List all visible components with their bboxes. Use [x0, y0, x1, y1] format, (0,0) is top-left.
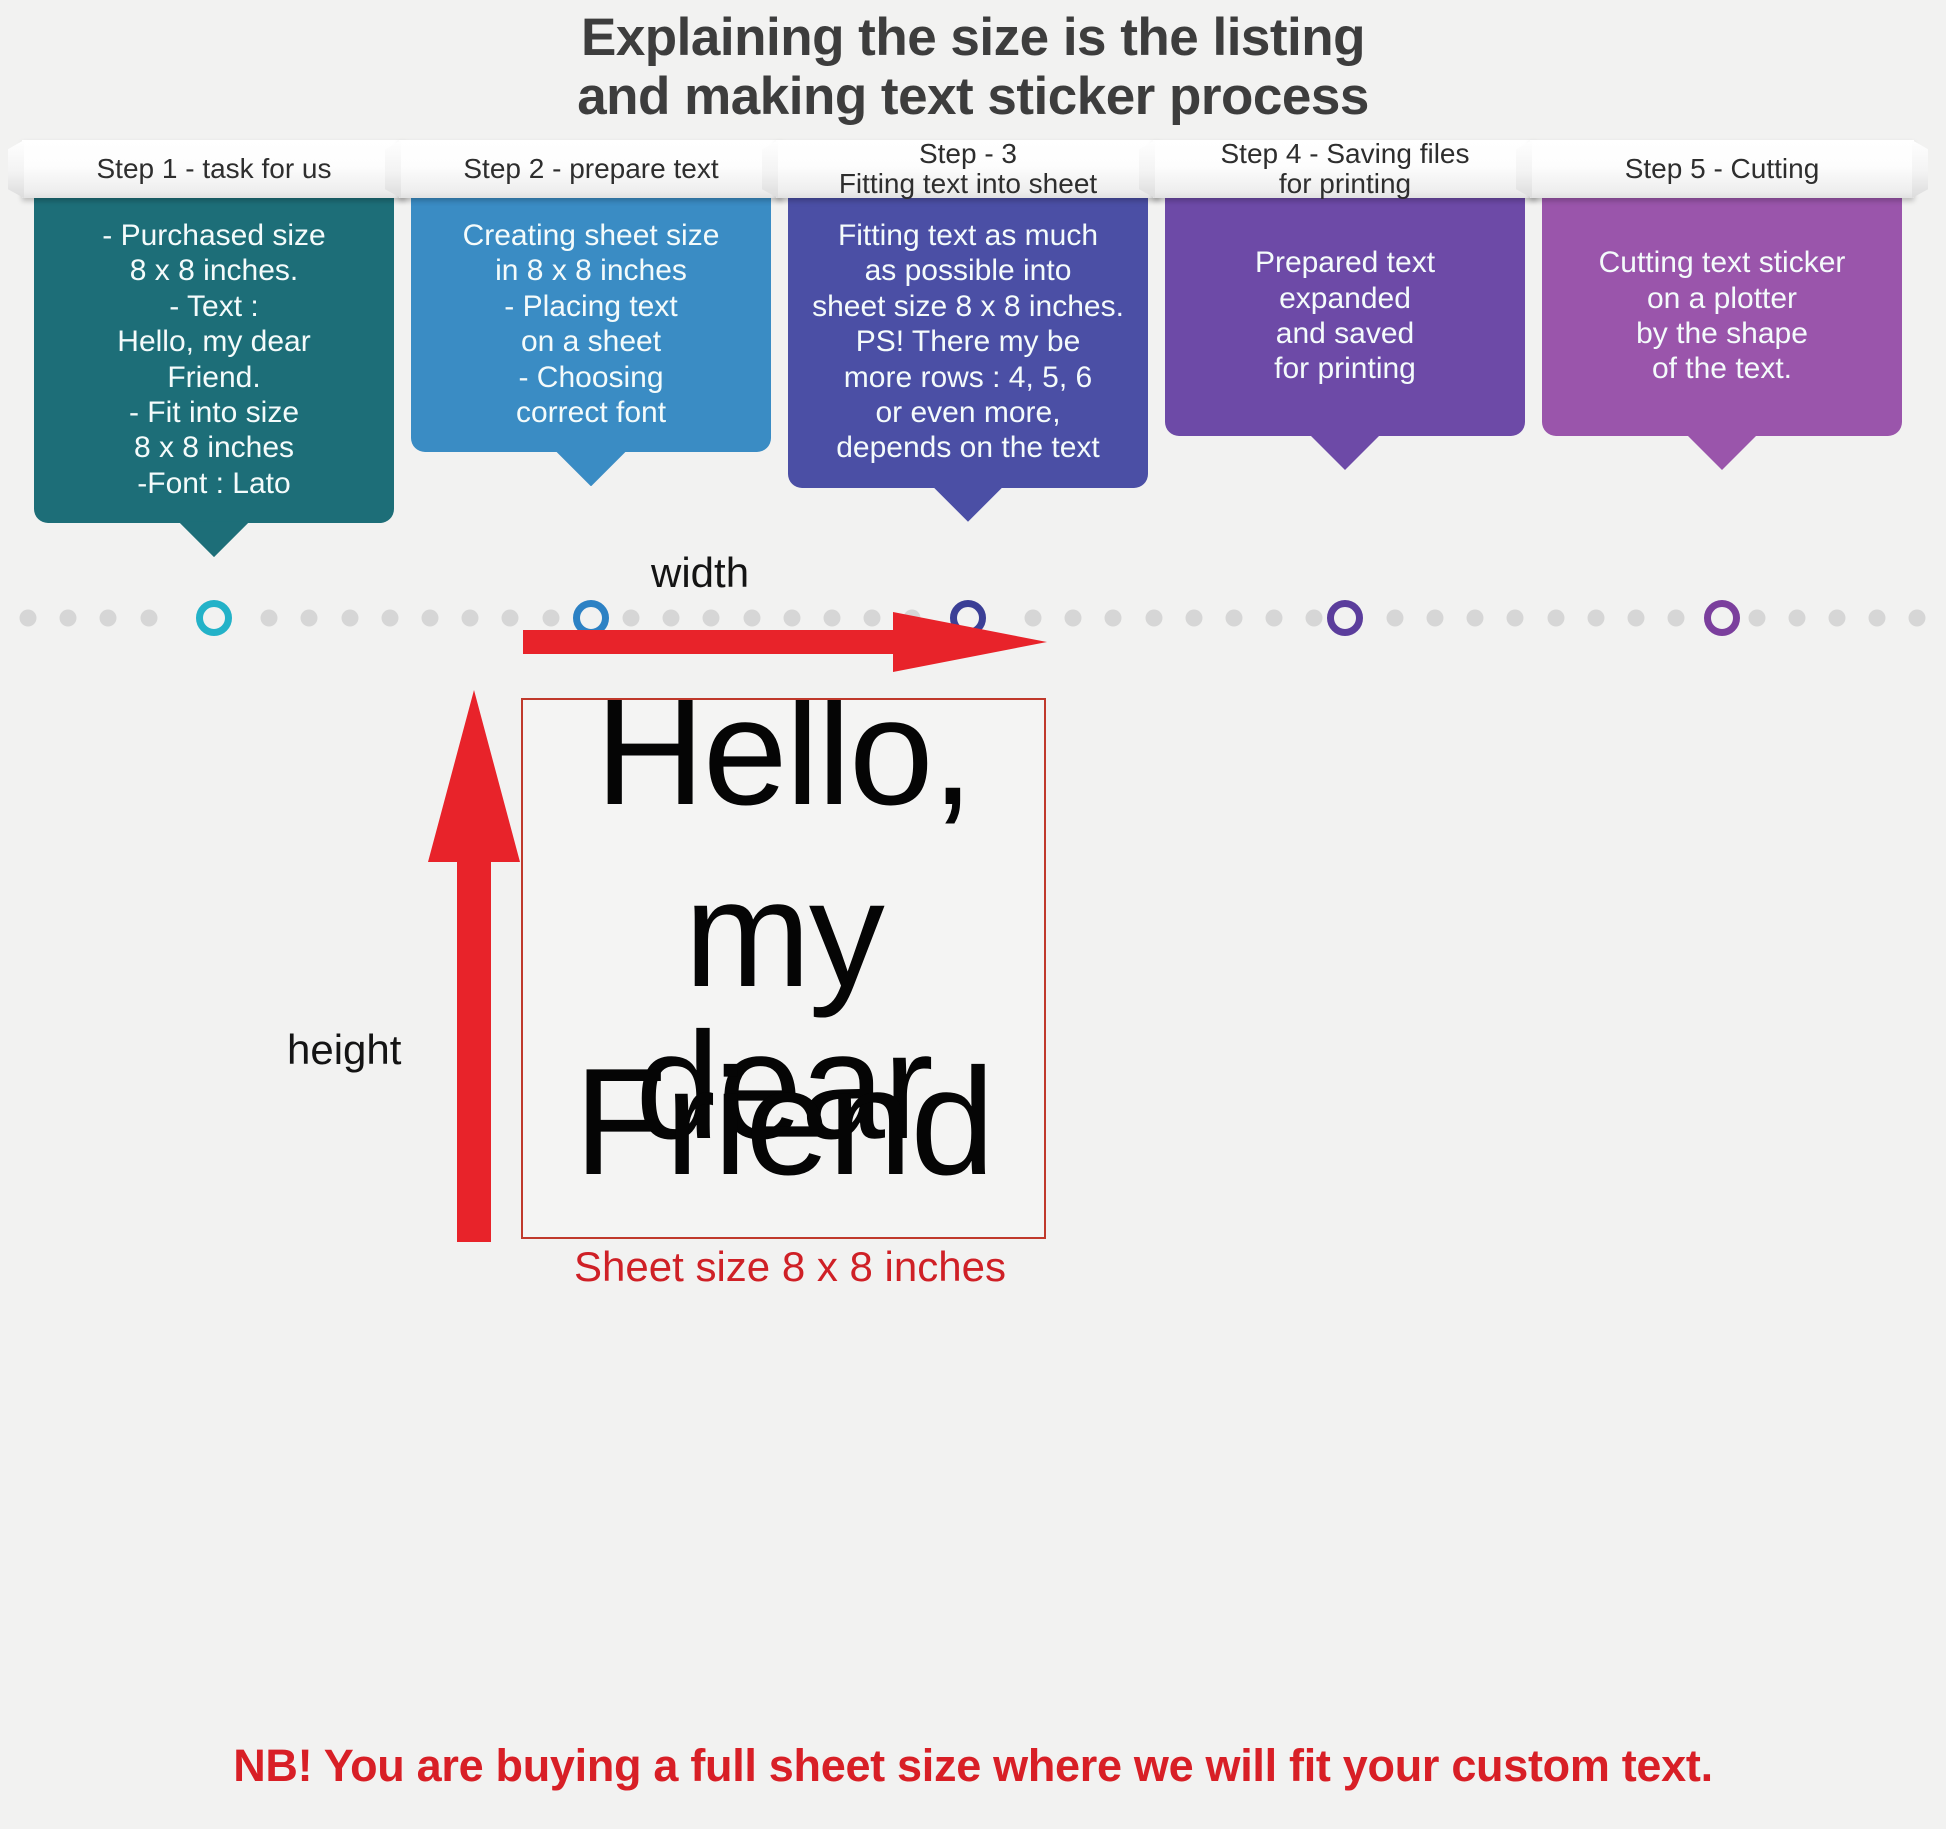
step-5-panel: Cutting text sticker on a plotter by the… — [1542, 198, 1902, 436]
page-title: Explaining the size is the listing and m… — [0, 8, 1946, 127]
step-3-label-ribbon: Step - 3 Fitting text into sheet — [776, 140, 1160, 198]
timeline-dot — [301, 610, 318, 627]
timeline-dot — [1185, 610, 1202, 627]
width-arrow-icon — [523, 610, 1047, 674]
step-3-label: Step - 3 Fitting text into sheet — [839, 139, 1097, 199]
step-3-body: Fitting text as much as possible into sh… — [812, 218, 1124, 466]
sheet-text-line-1: Hello, — [523, 698, 1044, 828]
step-1-pointer — [178, 521, 250, 557]
timeline-marker-step-4[interactable] — [1327, 600, 1363, 636]
timeline-dot — [60, 610, 77, 627]
sheet-preview: Hello, my dear Friend — [521, 698, 1046, 1239]
timeline-dot — [1266, 610, 1283, 627]
timeline-dot — [1829, 610, 1846, 627]
timeline-dot — [1145, 610, 1162, 627]
step-5-pointer — [1686, 434, 1758, 470]
timeline-dot — [502, 610, 519, 627]
height-label: height — [287, 1026, 401, 1074]
timeline-dot — [422, 610, 439, 627]
page-title-line-2: and making text sticker process — [0, 67, 1946, 126]
step-2-panel: Creating sheet size in 8 x 8 inches - Pl… — [411, 198, 771, 452]
timeline-dot — [1869, 610, 1886, 627]
timeline-dot — [261, 610, 278, 627]
width-label: width — [651, 549, 749, 597]
step-2-pointer — [555, 450, 627, 486]
timeline-dot — [1507, 610, 1524, 627]
timeline-dot — [1306, 610, 1323, 627]
step-5-label-ribbon: Step 5 - Cutting — [1530, 140, 1914, 198]
step-card-4[interactable]: Step 4 - Saving files for printing Prepa… — [1165, 140, 1525, 523]
height-arrow-icon — [420, 690, 528, 1242]
timeline-marker-step-1[interactable] — [196, 600, 232, 636]
timeline-dot — [462, 610, 479, 627]
timeline-dot — [1587, 610, 1604, 627]
step-3-pointer — [932, 486, 1004, 522]
timeline-dot — [1105, 610, 1122, 627]
timeline-dot — [1547, 610, 1564, 627]
step-1-panel: - Purchased size 8 x 8 inches. - Text : … — [34, 198, 394, 523]
step-4-label: Step 4 - Saving files for printing — [1220, 139, 1469, 199]
infographic-page: Explaining the size is the listing and m… — [0, 0, 1946, 1829]
page-title-line-1: Explaining the size is the listing — [581, 8, 1365, 67]
step-2-label-ribbon: Step 2 - prepare text — [399, 140, 783, 198]
bottom-note: NB! You are buying a full sheet size whe… — [0, 1740, 1946, 1792]
step-4-label-ribbon: Step 4 - Saving files for printing — [1153, 140, 1537, 198]
timeline-dot — [1788, 610, 1805, 627]
sheet-size-caption: Sheet size 8 x 8 inches — [470, 1243, 1110, 1291]
timeline-marker-step-5[interactable] — [1704, 600, 1740, 636]
timeline-dot — [1386, 610, 1403, 627]
steps-row: Step 1 - task for us - Purchased size 8 … — [34, 140, 1914, 523]
timeline-dot — [1748, 610, 1765, 627]
step-5-body: Cutting text sticker on a plotter by the… — [1599, 245, 1846, 387]
timeline-dot — [1226, 610, 1243, 627]
timeline-dot — [341, 610, 358, 627]
step-2-label: Step 2 - prepare text — [463, 154, 718, 184]
step-3-panel: Fitting text as much as possible into sh… — [788, 198, 1148, 488]
step-card-2[interactable]: Step 2 - prepare text Creating sheet siz… — [411, 140, 771, 523]
timeline-dot — [1909, 610, 1926, 627]
step-2-body: Creating sheet size in 8 x 8 inches - Pl… — [463, 218, 720, 430]
sheet-text-line-3: Friend — [523, 1046, 1044, 1198]
timeline-dot — [100, 610, 117, 627]
step-4-pointer — [1309, 434, 1381, 470]
step-1-label: Step 1 - task for us — [97, 154, 332, 184]
timeline-dot — [1628, 610, 1645, 627]
timeline-dot — [20, 610, 37, 627]
timeline-dot — [381, 610, 398, 627]
step-4-body: Prepared text expanded and saved for pri… — [1255, 245, 1435, 387]
timeline-dot — [1467, 610, 1484, 627]
timeline-dot — [1065, 610, 1082, 627]
step-1-body: - Purchased size 8 x 8 inches. - Text : … — [102, 218, 325, 501]
timeline-dot — [140, 610, 157, 627]
step-card-1[interactable]: Step 1 - task for us - Purchased size 8 … — [34, 140, 394, 523]
step-card-5[interactable]: Step 5 - Cutting Cutting text sticker on… — [1542, 140, 1902, 523]
step-1-label-ribbon: Step 1 - task for us — [22, 140, 406, 198]
timeline-dot — [1668, 610, 1685, 627]
step-5-label: Step 5 - Cutting — [1625, 154, 1820, 184]
timeline-dot — [1427, 610, 1444, 627]
step-4-panel: Prepared text expanded and saved for pri… — [1165, 198, 1525, 436]
step-card-3[interactable]: Step - 3 Fitting text into sheet Fitting… — [788, 140, 1148, 523]
